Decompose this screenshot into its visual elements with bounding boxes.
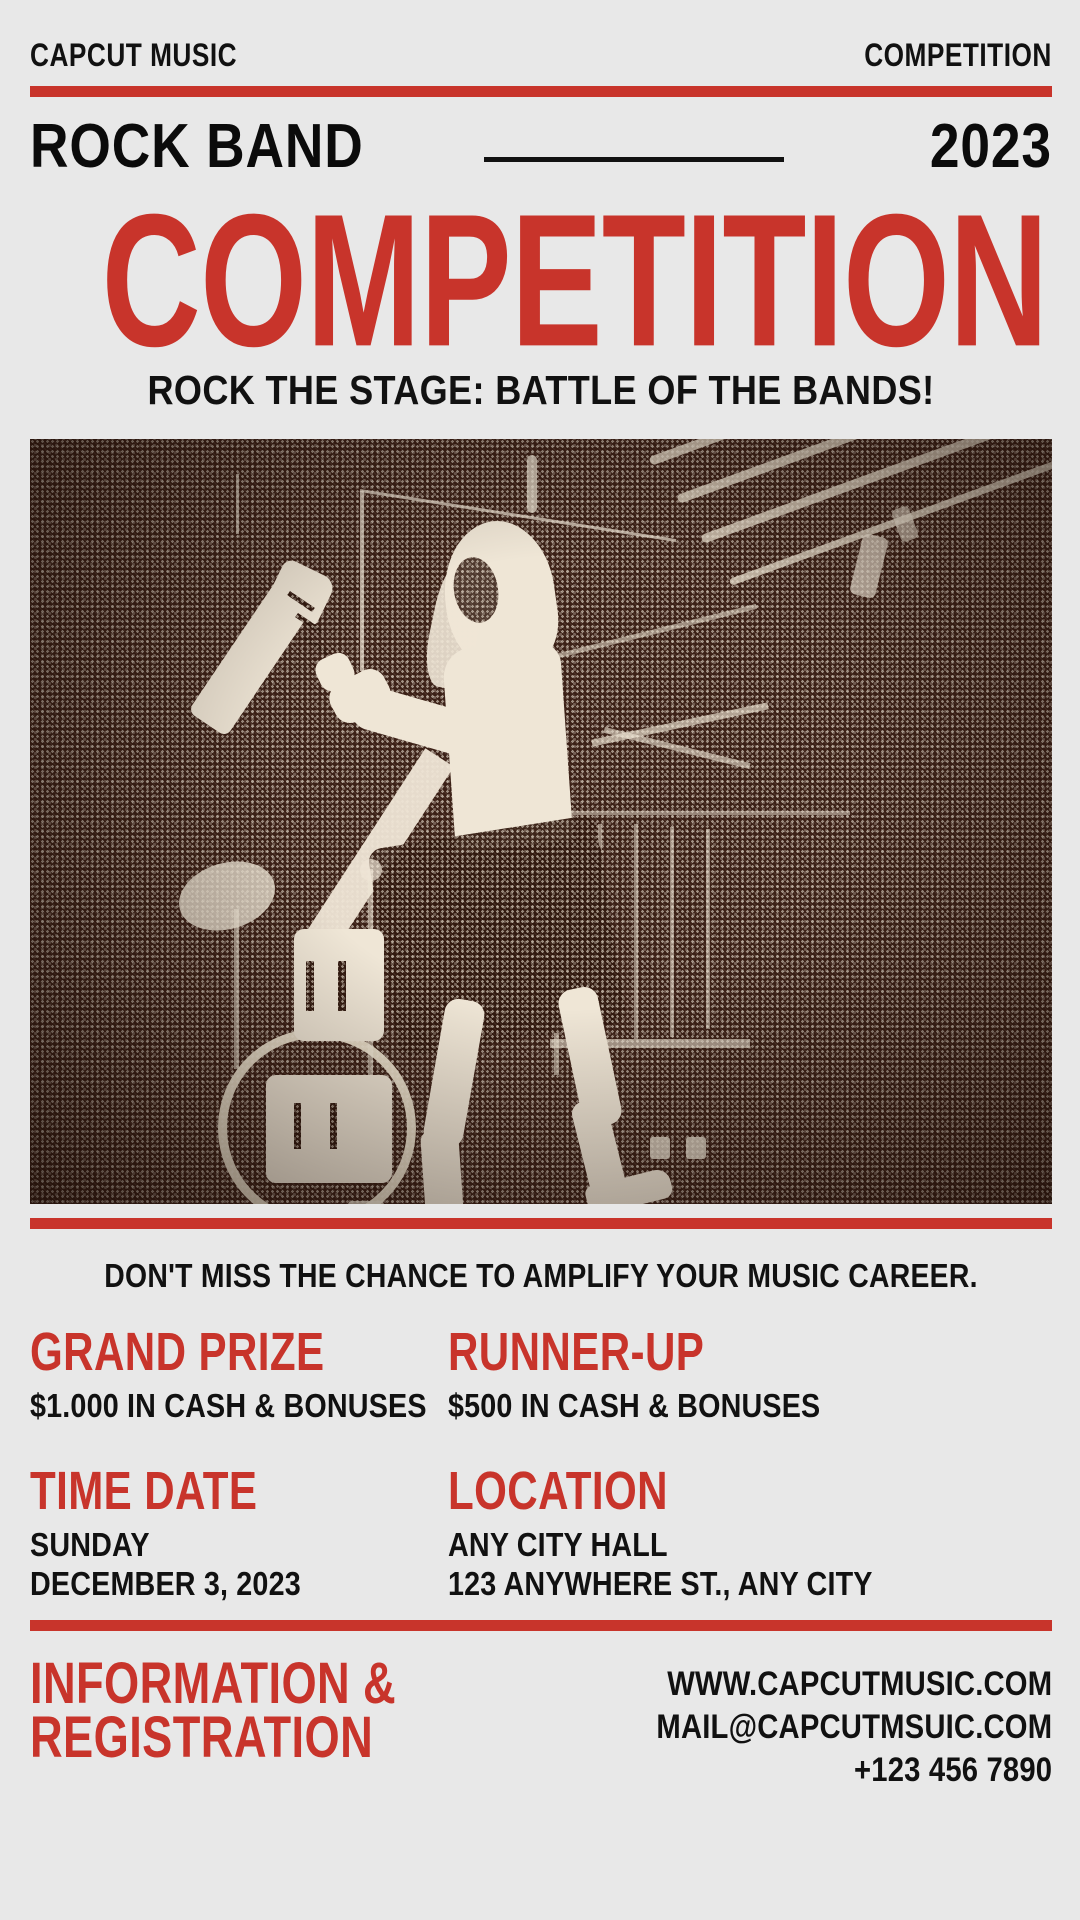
website-link[interactable]: WWW.CAPCUTMUSIC.COM [656, 1663, 1052, 1706]
phone-number[interactable]: +123 456 7890 [656, 1749, 1052, 1792]
section-label: COMPETITION [864, 37, 1052, 74]
email-link[interactable]: MAIL@CAPCUTMSUIC.COM [656, 1706, 1052, 1749]
info-body-line: DECEMBER 3, 2023 [30, 1565, 394, 1604]
info-cell-grand-prize: GRAND PRIZE $1.000 IN CASH & BONUSES [30, 1325, 448, 1426]
divider-rule-bottom [30, 1620, 1052, 1631]
poster-footer: INFORMATION & REGISTRATION WWW.CAPCUTMUS… [30, 1657, 1052, 1793]
info-heading: GRAND PRIZE [30, 1325, 356, 1379]
divider-rule-middle [30, 1218, 1052, 1229]
registration-line-2: REGISTRATION [30, 1711, 396, 1766]
tagline: ROCK THE STAGE: BATTLE OF THE BANDS! [91, 367, 990, 414]
info-cell-runner-up: RUNNER-UP $500 IN CASH & BONUSES [448, 1325, 1052, 1426]
poster-header: CAPCUT MUSIC COMPETITION [30, 0, 1052, 74]
info-body: $1.000 IN CASH & BONUSES [30, 1387, 394, 1426]
info-body: SUNDAY DECEMBER 3, 2023 [30, 1526, 394, 1604]
info-heading: TIME DATE [30, 1464, 356, 1518]
info-grid: GRAND PRIZE $1.000 IN CASH & BONUSES RUN… [30, 1325, 1052, 1604]
info-body-line: 123 ANYWHERE ST., ANY CITY [448, 1565, 973, 1604]
hero-photo [30, 439, 1052, 1204]
year-label: 2023 [930, 111, 1052, 182]
registration-heading: INFORMATION & REGISTRATION [30, 1657, 499, 1766]
halftone-overlay-fine [30, 439, 1052, 1204]
info-heading: LOCATION [448, 1464, 919, 1518]
info-heading: RUNNER-UP [448, 1325, 919, 1379]
page-title: COMPETITION [102, 205, 981, 356]
info-body-line: ANY CITY HALL [448, 1526, 973, 1565]
poster-root: CAPCUT MUSIC COMPETITION ROCK BAND 2023 … [0, 0, 1080, 1920]
info-body: $500 IN CASH & BONUSES [448, 1387, 973, 1426]
divider-rule-top [30, 86, 1052, 97]
horizontal-rule-icon [484, 157, 784, 162]
registration-line-1: INFORMATION & [30, 1657, 396, 1712]
info-body: ANY CITY HALL 123 ANYWHERE ST., ANY CITY [448, 1526, 973, 1604]
category-label: ROCK BAND [30, 111, 364, 182]
info-cell-time-date: TIME DATE SUNDAY DECEMBER 3, 2023 [30, 1464, 448, 1604]
category-year-row: ROCK BAND 2023 [30, 115, 1052, 177]
info-cell-location: LOCATION ANY CITY HALL 123 ANYWHERE ST.,… [448, 1464, 1052, 1604]
brand-label: CAPCUT MUSIC [30, 37, 237, 74]
contact-block: WWW.CAPCUTMUSIC.COM MAIL@CAPCUTMSUIC.COM… [592, 1663, 1052, 1793]
notice-text: DON'T MISS THE CHANCE TO AMPLIFY YOUR MU… [102, 1257, 981, 1295]
info-body-line: SUNDAY [30, 1526, 394, 1565]
